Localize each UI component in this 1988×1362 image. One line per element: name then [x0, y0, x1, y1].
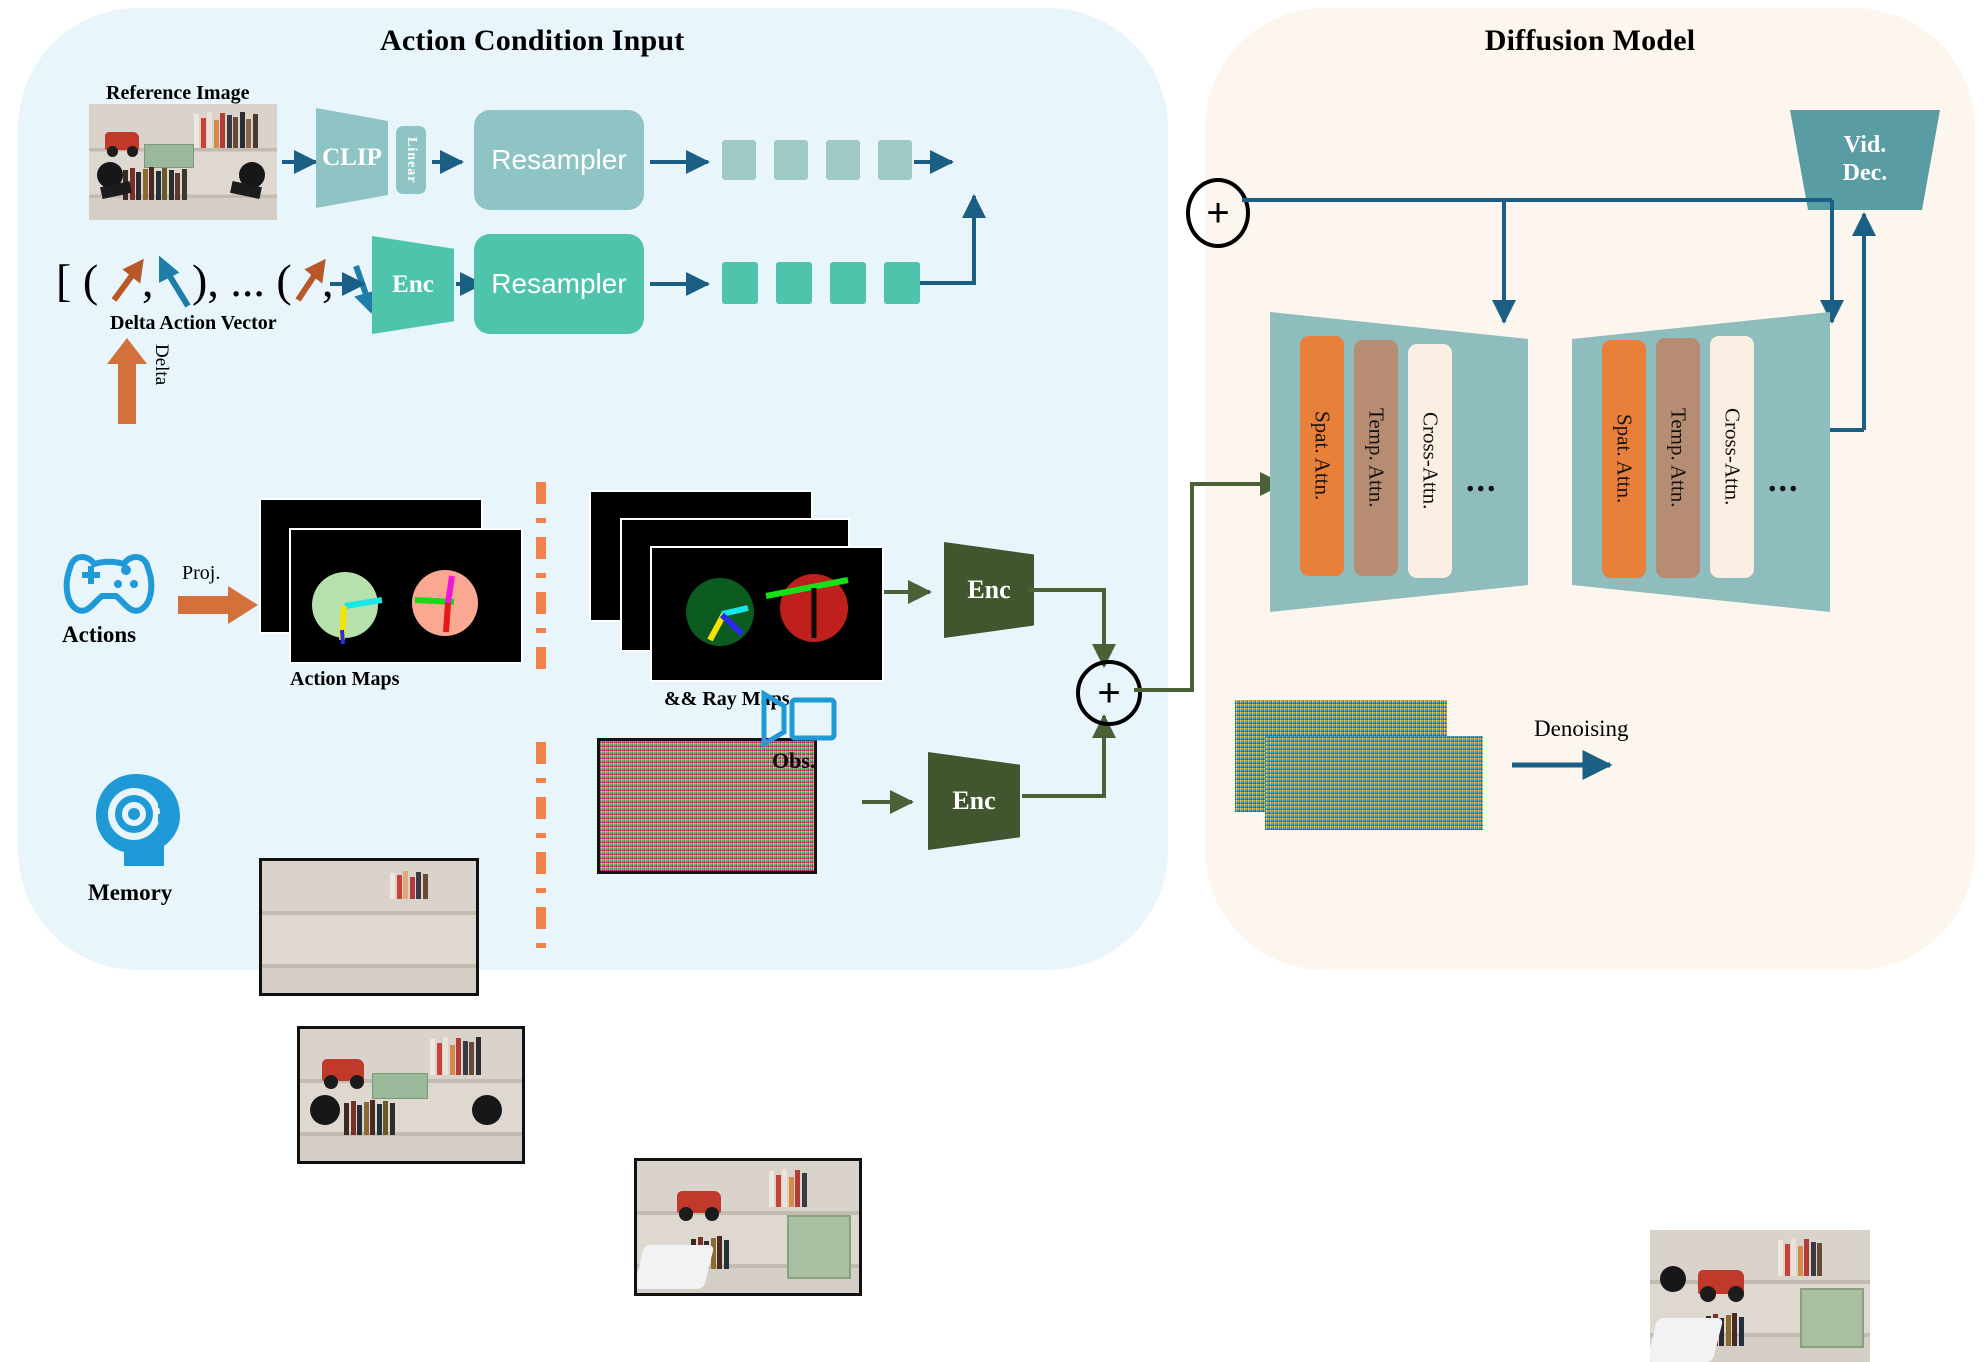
- arrow-resampler-to-tokens-action: [650, 272, 720, 296]
- up-cross-attn-bar: Cross-Attn.: [1710, 336, 1754, 578]
- memory-frame-back: [259, 858, 479, 996]
- action-token-3: [830, 262, 866, 304]
- clip-label: CLIP: [322, 144, 382, 172]
- arrow-resampler-to-tokens-image: [650, 150, 720, 174]
- video-decoder-label-1: Vid.: [1844, 132, 1886, 160]
- up-spat-attn-bar: Spat. Attn.: [1602, 340, 1646, 578]
- proj-label: Proj.: [182, 562, 220, 585]
- delta-arrow-label: Delta: [150, 344, 172, 385]
- left-panel-title: Action Condition Input: [380, 24, 680, 58]
- denoising-label: Denoising: [1534, 716, 1629, 742]
- denoise-output-image: [1650, 1230, 1870, 1362]
- enc-obs-block: Enc: [928, 752, 1020, 850]
- resampler-action-label: Resampler: [491, 268, 626, 300]
- linear-label: Linear: [403, 137, 419, 183]
- image-token-3: [826, 140, 860, 180]
- up-cross-attn-label: Cross-Attn.: [1720, 408, 1745, 505]
- resampler-image-label: Resampler: [491, 144, 626, 176]
- up-temp-attn-label: Temp. Attn.: [1666, 408, 1691, 507]
- action-token-4: [884, 262, 920, 304]
- image-token-1: [722, 140, 756, 180]
- arrow-raymaps-to-enc: [884, 580, 944, 604]
- divider-dashed-bottom: [534, 742, 548, 962]
- enc-action-block: Enc: [372, 236, 454, 334]
- svg-text:), ... (: ), ... (: [192, 255, 292, 306]
- proj-arrow-icon: [178, 586, 262, 624]
- obs-label: Obs.: [772, 748, 815, 774]
- enc-raymaps-block: Enc: [944, 542, 1034, 638]
- arrow-to-video-decoder: [1860, 200, 1890, 440]
- arrow-actionvec-to-enc: [330, 272, 378, 296]
- clip-encoder-block: CLIP: [316, 108, 388, 208]
- camera-icon: [762, 690, 838, 746]
- resampler-image-block: Resampler: [474, 110, 644, 210]
- up-temp-attn-bar: Temp. Attn.: [1656, 338, 1700, 578]
- action-map-frame-front: [289, 528, 523, 664]
- enc-obs-label: Enc: [952, 786, 995, 816]
- enc-raymaps-label: Enc: [967, 575, 1010, 605]
- divider-dashed-top: [534, 482, 548, 682]
- delta-action-vector-label: Delta Action Vector: [110, 312, 277, 335]
- reference-image-label: Reference Image: [106, 82, 249, 105]
- up-spat-attn-label: Spat. Attn.: [1612, 414, 1637, 503]
- route-action-tokens-to-sum: [918, 178, 1048, 290]
- right-panel-title: Diffusion Model: [1440, 24, 1740, 58]
- video-decoder-label-2: Dec.: [1843, 160, 1888, 188]
- ray-map-frame-front: [650, 546, 884, 682]
- obs-frame-clean: [634, 1158, 862, 1296]
- delta-action-vector-expression: [ ( , ), ... ( , )]: [56, 248, 376, 314]
- memory-brain-icon: [90, 770, 184, 874]
- svg-text:[ (: [ (: [56, 255, 98, 306]
- arrow-image-tokens-to-sum: [914, 150, 966, 174]
- delta-arrow-icon: [105, 338, 149, 424]
- gamepad-icon: [56, 548, 160, 618]
- down-temp-attn-bar: Temp. Attn.: [1354, 340, 1398, 576]
- actions-label: Actions: [62, 622, 136, 648]
- denoise-input-front: [1265, 736, 1483, 830]
- image-token-2: [774, 140, 808, 180]
- reference-image: [89, 104, 277, 220]
- down-cross-attn-bar: Cross-Attn.: [1408, 344, 1452, 578]
- down-cross-attn-label: Cross-Attn.: [1418, 412, 1443, 509]
- action-token-2: [776, 262, 812, 304]
- svg-text:,: ,: [142, 255, 154, 306]
- up-block-ellipsis: ...: [1768, 462, 1800, 500]
- arrow-linear-to-resampler: [432, 150, 474, 174]
- denoising-arrow: [1512, 752, 1632, 778]
- enc-action-label: Enc: [392, 271, 434, 299]
- down-spat-attn-label: Spat. Attn.: [1310, 411, 1335, 500]
- image-token-4: [878, 140, 912, 180]
- action-maps-label: Action Maps: [290, 668, 399, 691]
- memory-label: Memory: [88, 880, 172, 906]
- route-sum-to-unet: [1132, 470, 1292, 700]
- action-token-1: [722, 262, 758, 304]
- down-spat-attn-bar: Spat. Attn.: [1300, 336, 1344, 576]
- linear-block: Linear: [396, 126, 426, 194]
- resampler-action-block: Resampler: [474, 234, 644, 334]
- condition-sum-node: +: [1186, 178, 1250, 248]
- arrow-obs-to-enc: [862, 790, 928, 814]
- memory-frame-front: [297, 1026, 525, 1164]
- down-block-ellipsis: ...: [1466, 462, 1498, 500]
- down-temp-attn-label: Temp. Attn.: [1364, 408, 1389, 507]
